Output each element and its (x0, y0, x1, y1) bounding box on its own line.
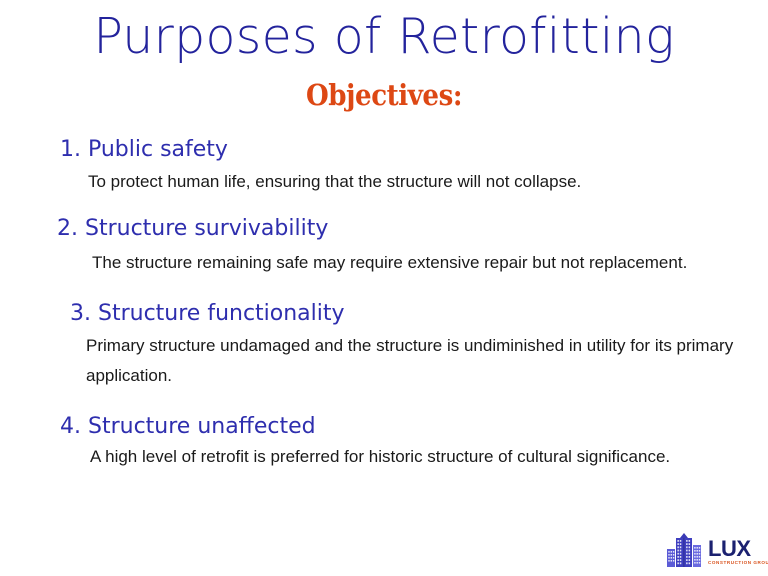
objective-heading-4: 4. Structure unaffected (0, 413, 768, 441)
building-skyline-icon (666, 532, 706, 568)
objectives-list: 1. Public safety To protect human life, … (0, 130, 768, 472)
objective-heading-2: 2. Structure survivability (0, 215, 768, 243)
objective-body-2: The structure remaining safe may require… (0, 248, 712, 278)
objective-body-1: To protect human life, ensuring that the… (0, 167, 668, 197)
objective-heading-3: 3. Structure functionality (0, 300, 768, 328)
objective-body-4: A high level of retrofit is preferred fo… (0, 442, 710, 472)
objective-body-3: Primary structure undamaged and the stru… (0, 331, 768, 391)
list-item: 1. Public safety To protect human life, … (0, 136, 768, 197)
slide-subtitle: Objectives: (38, 78, 729, 112)
objective-heading-1: 1. Public safety (0, 136, 768, 164)
page-title: Purposes of Retrofitting (0, 8, 768, 66)
logo-wordmark: LUX CONSTRUCTION GROUP (708, 539, 768, 568)
logo-tagline: CONSTRUCTION GROUP (708, 559, 768, 566)
logo-word: LUX (708, 539, 768, 559)
slide-canvas: Purposes of Retrofitting Objectives: 1. … (0, 0, 768, 576)
list-item: 2. Structure survivability The structure… (0, 215, 768, 278)
list-item: 4. Structure unaffected A high level of … (0, 413, 768, 472)
lux-construction-group-logo: LUX CONSTRUCTION GROUP (666, 526, 762, 568)
list-item: 3. Structure functionality Primary struc… (0, 300, 768, 391)
